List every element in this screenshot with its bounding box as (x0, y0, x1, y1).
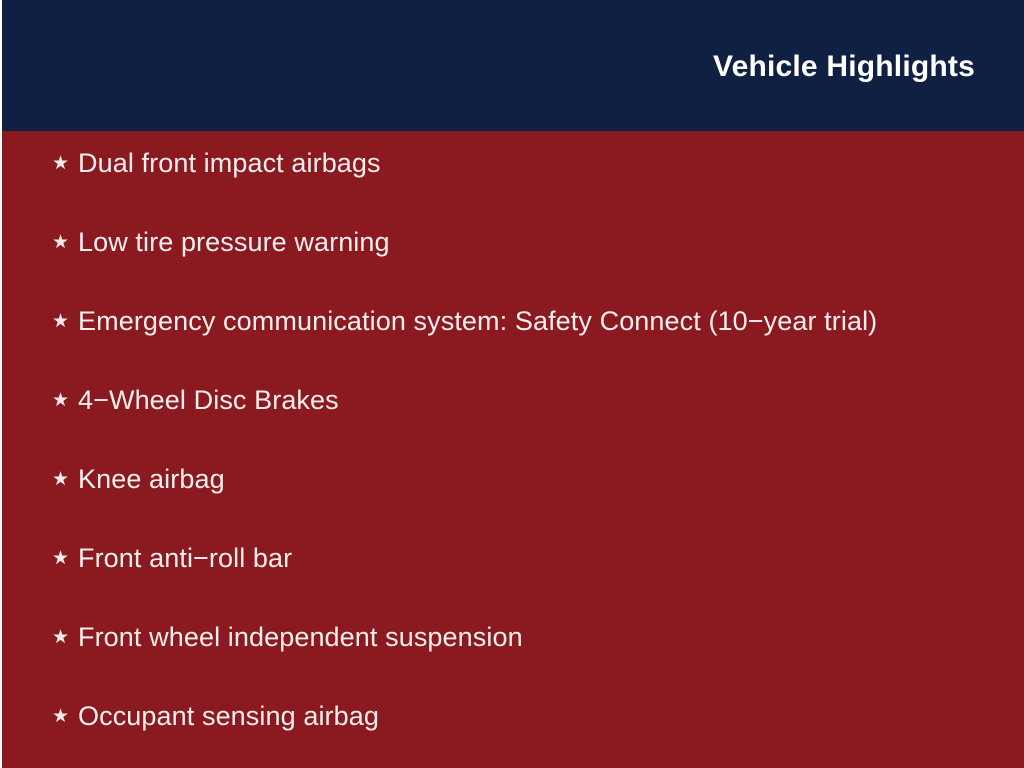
star-bullet-icon: ★ (52, 470, 78, 489)
list-item-label: Front wheel independent suspension (78, 624, 523, 651)
star-bullet-icon: ★ (52, 549, 78, 568)
list-item: ★ Front anti−roll bar (42, 545, 1024, 624)
star-bullet-icon: ★ (52, 628, 78, 647)
list-item-label: Low tire pressure warning (78, 229, 390, 256)
list-item-label: Dual front impact airbags (78, 150, 381, 177)
star-bullet-icon: ★ (52, 707, 78, 726)
list-item-label: Occupant sensing airbag (78, 703, 379, 730)
list-item: ★ Front wheel independent suspension (42, 624, 1024, 703)
list-item: ★ Knee airbag (42, 466, 1024, 545)
list-item: ★ Occupant sensing airbag (42, 703, 1024, 768)
list-item-label: Knee airbag (78, 466, 225, 493)
list-item-label: 4−Wheel Disc Brakes (78, 387, 339, 414)
star-bullet-icon: ★ (52, 233, 78, 252)
list-item: ★ Dual front impact airbags (42, 150, 1024, 229)
star-bullet-icon: ★ (52, 391, 78, 410)
list-item: ★ Emergency communication system: Safety… (42, 308, 1024, 387)
star-bullet-icon: ★ (52, 154, 78, 173)
vehicle-highlights-list: ★ Dual front impact airbags ★ Low tire p… (2, 131, 1024, 768)
page-title: Vehicle Highlights (713, 52, 975, 82)
list-item-label: Front anti−roll bar (78, 545, 292, 572)
list-item: ★ 4−Wheel Disc Brakes (42, 387, 1024, 466)
slide-header-band: Vehicle Highlights (0, 0, 1024, 131)
star-bullet-icon: ★ (52, 312, 78, 331)
vehicle-highlights-slide: Vehicle Highlights ★ Dual front impact a… (0, 0, 1024, 768)
list-item-label: Emergency communication system: Safety C… (78, 308, 877, 335)
list-item: ★ Low tire pressure warning (42, 229, 1024, 308)
